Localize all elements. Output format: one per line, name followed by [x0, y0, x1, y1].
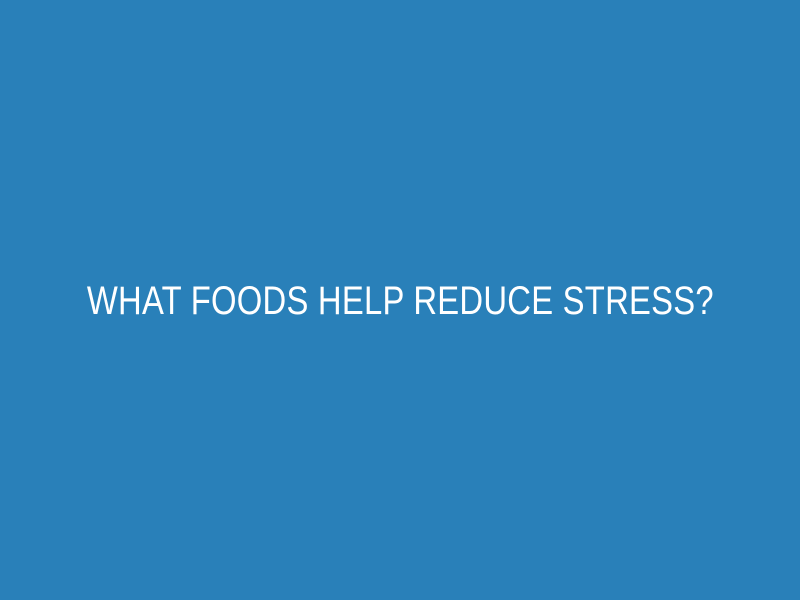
headline-band: WHAT FOODS HELP REDUCE STRESS? [0, 281, 800, 313]
hero-banner: WHAT FOODS HELP REDUCE STRESS? [0, 0, 800, 600]
page-title: WHAT FOODS HELP REDUCE STRESS? [86, 281, 713, 321]
